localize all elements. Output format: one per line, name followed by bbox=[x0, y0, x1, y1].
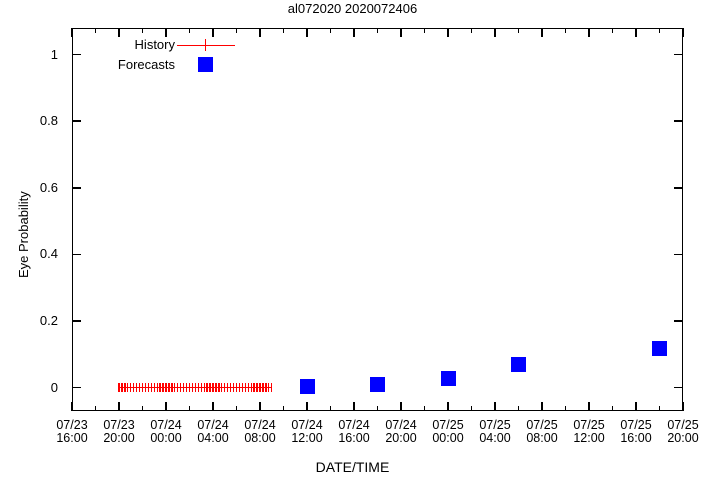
forecast-data-point bbox=[652, 341, 667, 356]
history-data-point bbox=[139, 383, 140, 392]
legend-key-history bbox=[177, 36, 237, 54]
history-data-point bbox=[262, 383, 263, 392]
forecast-data-point bbox=[441, 371, 456, 386]
history-data-point bbox=[239, 383, 240, 392]
history-data-point bbox=[154, 383, 155, 392]
y-axis-tick-label: 0.8 bbox=[0, 114, 58, 127]
history-data-point bbox=[133, 383, 134, 392]
history-data-point bbox=[224, 383, 225, 392]
history-data-point bbox=[233, 383, 234, 392]
history-data-point bbox=[198, 383, 199, 392]
history-data-point bbox=[124, 383, 125, 392]
history-data-point bbox=[171, 383, 172, 392]
history-data-point bbox=[251, 383, 252, 392]
legend-item-forecasts: Forecasts bbox=[95, 56, 225, 76]
forecast-data-point bbox=[511, 357, 526, 372]
history-data-point bbox=[230, 383, 231, 392]
history-data-point bbox=[157, 383, 158, 392]
history-data-point bbox=[212, 383, 213, 392]
history-data-point bbox=[168, 383, 169, 392]
history-data-point bbox=[151, 383, 152, 392]
history-data-point bbox=[221, 383, 222, 392]
history-plus-swatch bbox=[205, 39, 206, 51]
forecast-data-point bbox=[370, 377, 385, 392]
forecasts-square-swatch bbox=[198, 57, 213, 72]
history-data-point bbox=[162, 383, 163, 392]
legend-key-forecasts bbox=[177, 56, 237, 74]
x-axis-label: DATE/TIME bbox=[0, 459, 705, 475]
y-axis-tick-label: 0 bbox=[0, 381, 58, 394]
chart-title: al072020 2020072406 bbox=[0, 1, 705, 16]
history-data-point bbox=[174, 383, 175, 392]
history-data-point bbox=[195, 383, 196, 392]
history-data-point bbox=[201, 383, 202, 392]
history-data-point bbox=[271, 383, 272, 392]
history-data-point bbox=[204, 383, 205, 392]
history-data-point bbox=[227, 383, 228, 392]
history-data-point bbox=[180, 383, 181, 392]
history-data-point bbox=[186, 383, 187, 392]
history-data-point bbox=[148, 383, 149, 392]
history-data-point bbox=[206, 383, 207, 392]
legend-label-history: History bbox=[135, 37, 175, 52]
history-data-point bbox=[209, 383, 210, 392]
history-data-point bbox=[256, 383, 257, 392]
history-data-point bbox=[236, 383, 237, 392]
plot-frame bbox=[72, 28, 683, 411]
history-data-point bbox=[183, 383, 184, 392]
history-data-point bbox=[145, 383, 146, 392]
legend-label-forecasts: Forecasts bbox=[118, 57, 175, 72]
history-data-point bbox=[253, 383, 254, 392]
x-axis-tick-label: 07/2520:00 bbox=[653, 419, 705, 445]
history-data-point bbox=[130, 383, 131, 392]
history-data-point bbox=[218, 383, 219, 392]
history-data-point bbox=[248, 383, 249, 392]
history-data-point bbox=[242, 383, 243, 392]
y-axis-tick-label: 0.6 bbox=[0, 181, 58, 194]
history-data-point bbox=[118, 383, 119, 392]
history-data-point bbox=[165, 383, 166, 392]
history-data-point bbox=[265, 383, 266, 392]
x-axis-tick-time: 20:00 bbox=[653, 432, 705, 445]
history-data-point bbox=[142, 383, 143, 392]
history-data-point bbox=[127, 383, 128, 392]
history-data-point bbox=[189, 383, 190, 392]
forecast-data-point bbox=[300, 379, 315, 394]
history-data-point bbox=[259, 383, 260, 392]
history-data-point bbox=[192, 383, 193, 392]
history-data-point bbox=[159, 383, 160, 392]
history-data-point bbox=[177, 383, 178, 392]
legend-item-history: History bbox=[95, 36, 225, 56]
y-axis-label: Eye Probability bbox=[16, 191, 31, 278]
y-axis-tick-label: 0.4 bbox=[0, 247, 58, 260]
history-data-point bbox=[268, 383, 269, 392]
y-axis-tick-label: 0.2 bbox=[0, 314, 58, 327]
history-data-point bbox=[121, 383, 122, 392]
history-data-point bbox=[136, 383, 137, 392]
history-data-point bbox=[215, 383, 216, 392]
history-data-point bbox=[245, 383, 246, 392]
chart-container: al072020 2020072406 Eye Probability 00.2… bbox=[0, 0, 705, 482]
chart-legend: History Forecasts bbox=[95, 36, 225, 76]
y-axis-tick-label: 1 bbox=[0, 48, 58, 61]
